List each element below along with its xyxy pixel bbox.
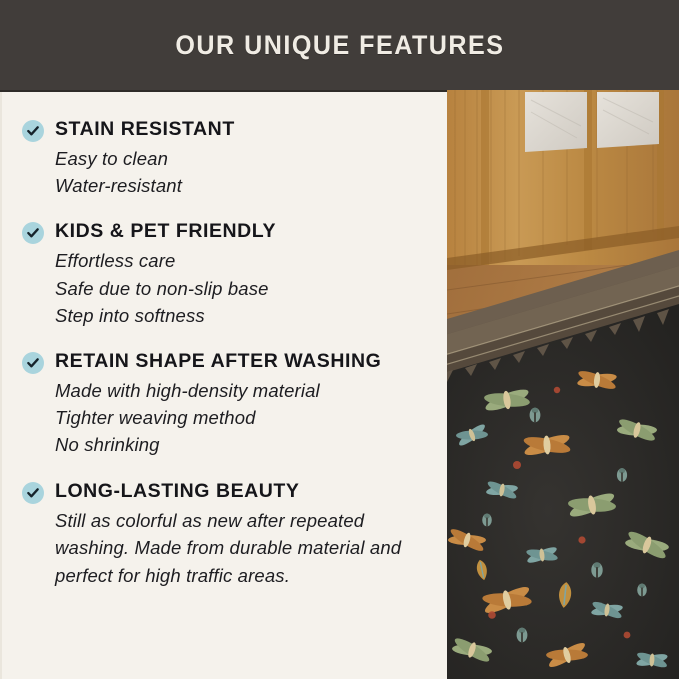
feature-detail-line: Tighter weaving method <box>55 404 439 431</box>
product-feature-infographic: OUR UNIQUE FEATURES STAIN RESISTANT Easy… <box>0 0 679 679</box>
feature-detail-line: Water-resistant <box>55 172 439 199</box>
feature-detail-line: Safe due to non-slip base <box>55 275 439 302</box>
check-circle-icon <box>22 120 44 142</box>
feature-description: Still as colorful as new after repeated … <box>55 507 430 590</box>
product-lifestyle-photo <box>447 90 679 679</box>
check-circle-icon <box>22 222 44 244</box>
header-banner: OUR UNIQUE FEATURES <box>0 0 679 90</box>
page-title: OUR UNIQUE FEATURES <box>175 30 504 61</box>
check-circle-icon <box>22 352 44 374</box>
feature-detail-line: No shrinking <box>55 431 439 458</box>
feature-detail-line: Effortless care <box>55 247 439 274</box>
feature-detail-line: Made with high-density material <box>55 377 439 404</box>
feature-detail-line: Step into softness <box>55 302 439 329</box>
feature-item-long-lasting-beauty: LONG-LASTING BEAUTY Still as colorful as… <box>2 480 439 590</box>
feature-item-retain-shape: RETAIN SHAPE AFTER WASHING Made with hig… <box>2 350 439 459</box>
check-circle-icon <box>22 482 44 504</box>
feature-item-stain-resistant: STAIN RESISTANT Easy to clean Water-resi… <box>2 118 439 199</box>
feature-title: KIDS & PET FRIENDLY <box>55 220 439 243</box>
feature-item-kids-pet-friendly: KIDS & PET FRIENDLY Effortless care Safe… <box>2 220 439 329</box>
feature-title: RETAIN SHAPE AFTER WASHING <box>55 350 439 373</box>
feature-list: STAIN RESISTANT Easy to clean Water-resi… <box>0 92 447 679</box>
feature-detail-line: Easy to clean <box>55 145 439 172</box>
feature-title: LONG-LASTING BEAUTY <box>55 480 439 503</box>
feature-title: STAIN RESISTANT <box>55 118 439 141</box>
